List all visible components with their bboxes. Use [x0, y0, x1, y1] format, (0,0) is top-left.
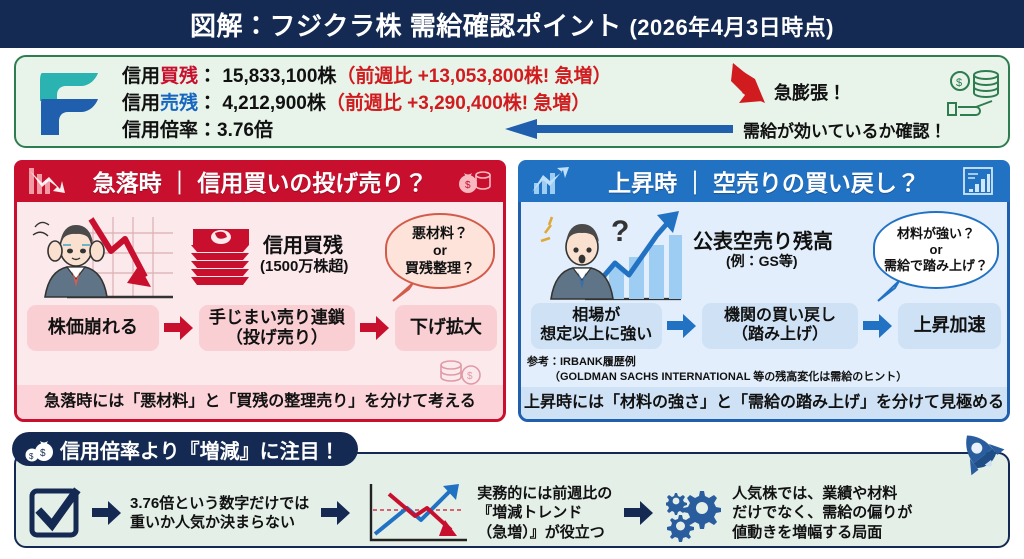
chart-up-icon — [528, 164, 572, 198]
surprised-businessman-icon: ? — [529, 205, 689, 310]
rally-stat-label: 公表空売り残高 — [693, 225, 833, 254]
page-title: 図解：フジクラ株 需給確認ポイント (2026年4月3日時点) — [190, 6, 834, 43]
bubble-tail-icon — [389, 281, 415, 303]
buy-label-suffix: ： — [198, 66, 217, 87]
chart-down-icon — [24, 164, 68, 198]
crash-flow: 株価崩れる 手じまい売り連鎖 （投げ売り） 下げ拡大 — [27, 303, 497, 353]
arrow-right-icon — [624, 500, 654, 526]
rally-flow-box-2: 機関の買い戻し （踏み上げ） — [702, 303, 859, 349]
rally-reference-line1: 参考：IRBANK履歴例 — [527, 355, 907, 370]
rally-flow-box-1: 相場が 想定以上に強い — [531, 303, 662, 349]
arrow-down-right-icon — [729, 61, 769, 107]
coin-hand-icon: $ — [944, 67, 1004, 119]
label-confirm-supply-demand: 需給が効いているか確認！ — [743, 117, 947, 142]
panel-crash: 急落時 ｜ 信用買いの投げ売り？ $ — [14, 160, 506, 422]
rally-bubble-line3: 需給で踏み上げ？ — [884, 258, 988, 274]
summary-line-buy: 信用買残： 15,833,100株（前週比 +13,053,800株! 急増） — [122, 63, 612, 90]
arrow-right-icon — [321, 500, 351, 526]
sell-label-prefix: 信用 — [122, 93, 160, 114]
svg-text:$: $ — [956, 77, 962, 89]
money-bag-icon: $ — [452, 164, 496, 198]
buy-label-prefix: 信用 — [122, 66, 160, 87]
sell-label-suffix: ： — [198, 93, 217, 114]
arrow-right-icon — [863, 313, 893, 339]
crash-flow-label-2: 手じまい売り連鎖 （投げ売り） — [209, 308, 345, 348]
focus-item-2-text: 実務的には前週比の 『増減トレンド （急増）』が役立つ — [477, 484, 612, 543]
rally-flow: 相場が 想定以上に強い 機関の買い戻し （踏み上げ） 上昇加速 — [531, 301, 1001, 351]
arrow-right-icon — [92, 500, 122, 526]
rally-reference-note: 参考：IRBANK履歴例 （GOLDMAN SACHS INTERNATIONA… — [527, 355, 907, 385]
rally-flow-box-3: 上昇加速 — [898, 303, 1001, 349]
crash-stat-label: 信用買残 — [263, 229, 343, 258]
focus-item-3-text: 人気株では、業績や材料 だけでなく、需給の偏りが 値動きを増幅する局面 — [732, 484, 912, 543]
svg-text:$: $ — [465, 180, 471, 191]
panel-focus-header: $ $ 信用倍率より『増減』に注目！ — [12, 432, 358, 466]
sell-change: （前週比 +3,290,400株! 急増） — [326, 93, 591, 114]
crash-flow-box-3: 下げ拡大 — [395, 305, 497, 351]
summary-line-sell: 信用売残： 4,212,900株（前週比 +3,290,400株! 急増） — [122, 90, 612, 117]
panel-crash-title: 急落時 ｜ 信用買いの投げ売り？ — [68, 164, 452, 198]
arrow-right-icon — [667, 313, 697, 339]
crash-question-bubble: 悪材料？ or 買残整理？ — [385, 213, 495, 289]
sell-value: 4,212,900株 — [222, 93, 326, 114]
crash-flow-box-2: 手じまい売り連鎖 （投げ売り） — [199, 305, 355, 351]
focus-item-1-text: 3.76倍という数字だけでは 重いか人気か決まらない — [130, 494, 309, 533]
label-rapid-expansion: 急膨張！ — [774, 79, 846, 105]
focus-item-1: 3.76倍という数字だけでは 重いか人気か決まらない — [28, 487, 309, 539]
gears-icon — [666, 483, 728, 543]
focus-item-3: 人気株では、業績や材料 だけでなく、需給の偏りが 値動きを増幅する局面 — [666, 483, 912, 543]
rally-stat-sub: (例：GS等) — [726, 251, 798, 271]
rally-flow-label-2: 機関の買い戻し （踏み上げ） — [724, 307, 836, 345]
buy-value: 15,833,100株 — [222, 66, 336, 87]
worried-businessman-icon — [27, 205, 177, 310]
svg-text:?: ? — [611, 215, 629, 248]
crash-bubble-line1: 悪材料？ — [412, 225, 468, 242]
rally-flow-label-1: 相場が 想定以上に強い — [540, 307, 652, 345]
crash-flow-label-1: 株価崩れる — [48, 317, 138, 338]
panel-focus-row: 3.76倍という数字だけでは 重いか人気か決まらない 実務的には前週比の 『増減… — [28, 478, 1000, 548]
crash-bubble-line3: 買残整理？ — [405, 260, 475, 277]
panel-focus: $ $ 信用倍率より『増減』に注目！ 3.76倍という数字だけでは 重いか人気か… — [14, 452, 1010, 548]
buy-label-key: 買残 — [160, 66, 198, 87]
rally-flow-label-3: 上昇加速 — [914, 315, 986, 336]
money-bag-icon: $ $ — [24, 435, 54, 463]
svg-text:$: $ — [29, 452, 34, 461]
panel-focus-title: 信用倍率より『増減』に注目！ — [60, 435, 340, 464]
panel-crash-header: 急落時 ｜ 信用買いの投げ売り？ $ — [14, 160, 506, 202]
crash-stat-sub: (1500万株超) — [260, 255, 348, 276]
panel-rally-title: 上昇時 ｜ 空売りの買い戻し？ — [572, 164, 956, 198]
summary-panel: 信用買残： 15,833,100株（前週比 +13,053,800株! 急増） … — [14, 55, 1010, 148]
infographic-root: 図解：フジクラ株 需給確認ポイント (2026年4月3日時点) 信用買残： 15… — [0, 0, 1024, 559]
panel-rally-header: 上昇時 ｜ 空売りの買い戻し？ — [518, 160, 1010, 202]
trend-cross-chart-icon — [363, 480, 471, 546]
buy-change: （前週比 +13,053,800株! 急増） — [336, 66, 611, 87]
svg-text:$: $ — [40, 448, 46, 459]
page-title-bar: 図解：フジクラ株 需給確認ポイント (2026年4月3日時点) — [0, 0, 1024, 48]
checkbox-checked-icon — [28, 487, 84, 539]
crash-bubble-line2: or — [433, 242, 447, 259]
panel-rally: 上昇時 ｜ 空売りの買い戻し？ — [518, 160, 1010, 422]
sell-label-key: 売残 — [160, 93, 198, 114]
svg-text:$: $ — [467, 371, 473, 382]
rally-bubble-line1: 材料が強い？ — [897, 226, 975, 242]
rally-reference-line2: （GOLDMAN SACHS INTERNATIONAL 等の残高変化は需給のヒ… — [527, 370, 907, 385]
arrow-right-icon — [164, 315, 194, 341]
page-title-main: 図解：フジクラ株 需給確認ポイント — [190, 11, 622, 41]
bar-chart-icon — [956, 164, 1000, 198]
crash-flow-label-3: 下げ拡大 — [410, 317, 482, 338]
arrow-left-icon — [503, 118, 733, 140]
crash-flow-box-1: 株価崩れる — [27, 305, 159, 351]
fujikura-logo-icon — [36, 69, 108, 137]
arrow-right-icon — [360, 315, 390, 341]
focus-item-2: 実務的には前週比の 『増減トレンド （急増）』が役立つ — [363, 480, 612, 546]
cash-stack-icon — [185, 221, 257, 291]
rally-bubble-line2: or — [930, 242, 943, 258]
crash-footnote: 急落時には「悪材料」と「買残の整理売り」を分けて考える — [17, 385, 503, 419]
rally-question-bubble: 材料が強い？ or 需給で踏み上げ？ — [873, 211, 999, 289]
bubble-tail-icon — [875, 279, 901, 303]
page-title-date: (2026年4月3日時点) — [629, 15, 834, 40]
rocket-icon — [952, 428, 1014, 484]
rally-footnote: 上昇時には「材料の強さ」と「需給の踏み上げ」を分けて見極める — [521, 387, 1007, 419]
